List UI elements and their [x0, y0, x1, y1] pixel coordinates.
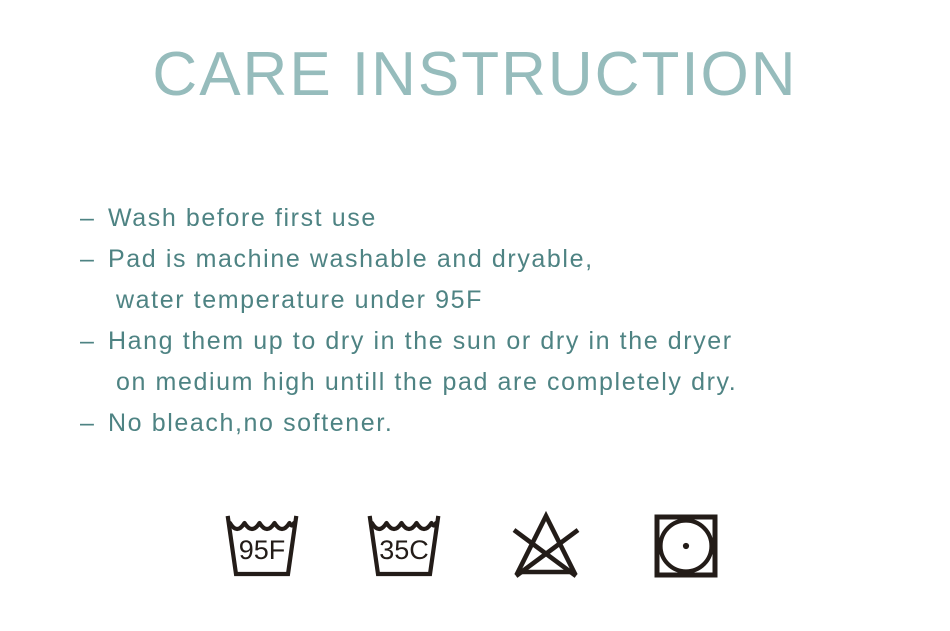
list-item-text: No bleach,no softener.: [108, 409, 393, 437]
list-item-continuation: on medium high untill the pad are comple…: [80, 362, 920, 403]
list-item-dash: –: [80, 321, 108, 362]
list-item-dash: –: [80, 403, 108, 444]
list-item-dash: –: [80, 198, 108, 239]
list-item-text: Hang them up to dry in the sun or dry in…: [108, 327, 733, 355]
instruction-list: –Wash before first use –Pad is machine w…: [80, 198, 920, 444]
list-item: –No bleach,no softener.: [80, 403, 920, 444]
list-item: –Wash before first use: [80, 198, 920, 239]
list-item-text: Wash before first use: [108, 204, 377, 232]
list-item-text: water temperature under 95F: [116, 286, 483, 314]
do-not-bleach-icon: [502, 508, 590, 588]
list-item-text: on medium high untill the pad are comple…: [116, 368, 737, 396]
list-item-text: Pad is machine washable and dryable,: [108, 245, 594, 273]
page-title: CARE INSTRUCTION: [0, 44, 950, 106]
care-instruction-label: CARE INSTRUCTION –Wash before first use …: [0, 0, 950, 631]
wash-tub-icon: 35C: [360, 508, 448, 588]
care-symbol-row: 95F 35C: [0, 508, 950, 594]
list-item-continuation: water temperature under 95F: [80, 280, 920, 321]
list-item-dash: –: [80, 239, 108, 280]
wash-tub-icon: 95F: [218, 508, 306, 588]
tumble-dry-low-icon: [644, 508, 732, 588]
list-item: –Hang them up to dry in the sun or dry i…: [80, 321, 920, 362]
list-item: –Pad is machine washable and dryable,: [80, 239, 920, 280]
